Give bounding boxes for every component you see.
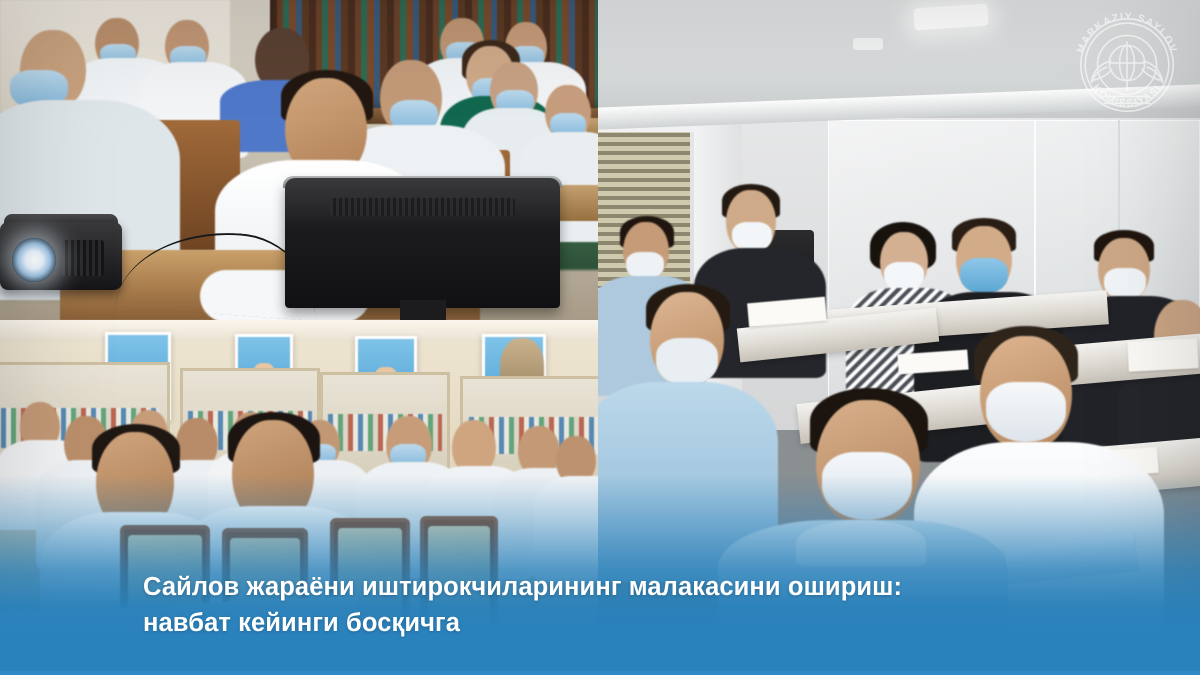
headline-line-1: Сайлов жараёни иштирокчиларининг малакас… bbox=[143, 569, 1043, 605]
news-banner: Сайлов жараёни иштирокчиларининг малакас… bbox=[0, 0, 1200, 675]
bottom-accent-bar bbox=[0, 653, 1200, 675]
participant-torso bbox=[534, 476, 598, 582]
paper-sheet bbox=[1127, 338, 1198, 372]
face-mask bbox=[986, 382, 1066, 442]
face-mask bbox=[656, 338, 718, 386]
monitor-stand bbox=[400, 300, 446, 320]
face-mask bbox=[822, 452, 912, 520]
logo-year: 1993-2021 bbox=[1110, 98, 1143, 104]
markaziy-saylov-komissiyasi-logo: MARKAZIY SAYLOV KOMISSIYASI 1993-2021 bbox=[1068, 6, 1186, 124]
bottom-accent-line bbox=[0, 671, 1200, 675]
ceiling-light-icon bbox=[853, 38, 883, 50]
headline-line-2: навбат кейинги босқичга bbox=[143, 605, 1043, 641]
projector-vent bbox=[62, 240, 104, 276]
shirt-collar bbox=[796, 520, 926, 566]
projector-lens-icon bbox=[12, 238, 56, 282]
page-title: Сайлов жараёни иштирокчиларининг малакас… bbox=[143, 569, 1043, 641]
photo-top-left bbox=[0, 0, 598, 320]
monitor-vent bbox=[330, 198, 515, 216]
top-left-scene bbox=[0, 0, 598, 320]
face-mask bbox=[960, 258, 1008, 294]
